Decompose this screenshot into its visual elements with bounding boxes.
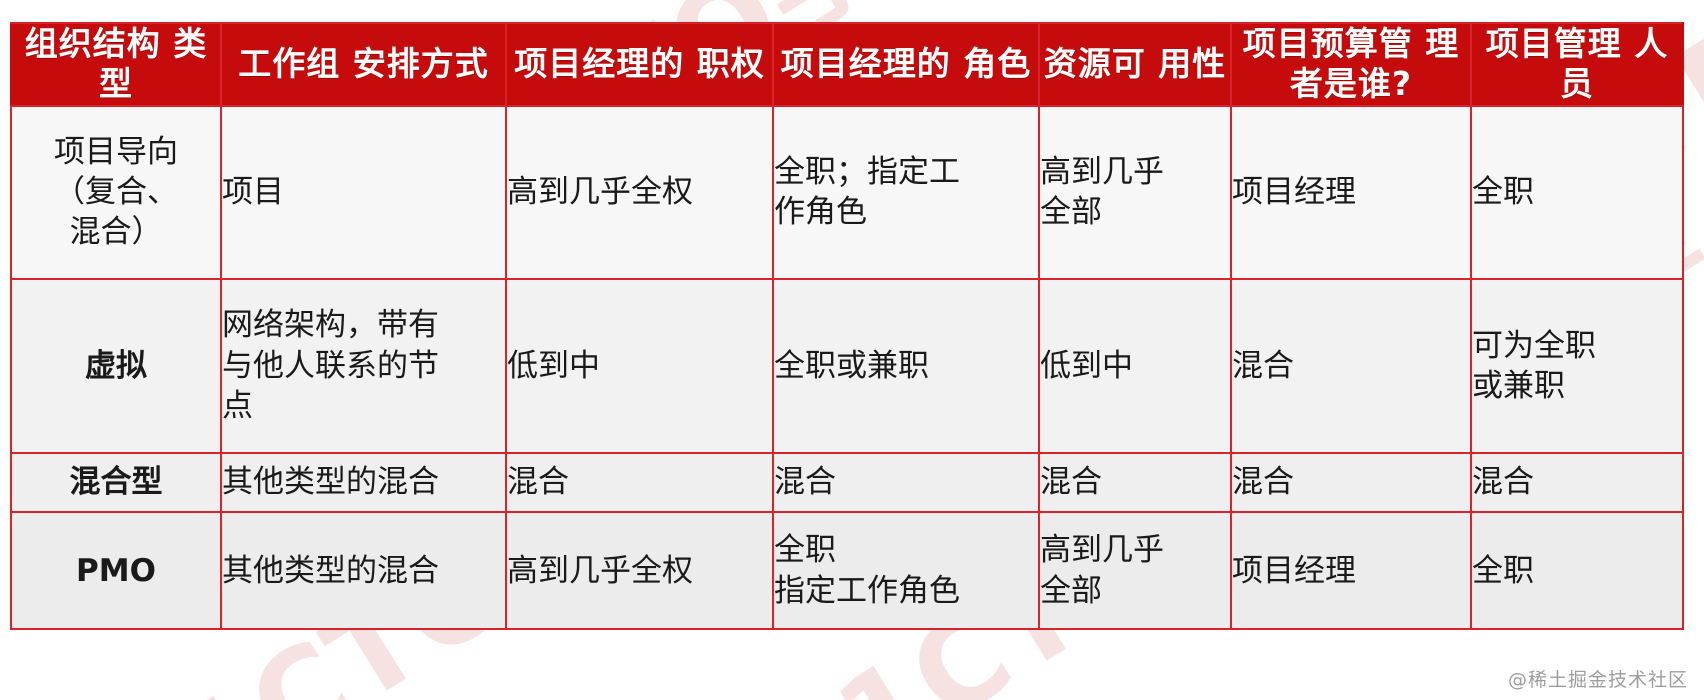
cell-pm-authority: 低到中 — [506, 279, 773, 453]
table-row: PMO 其他类型的混合 高到几乎全权 全职 指定工作角色 高到几乎 全部 项目经… — [11, 512, 1683, 629]
table-header: 组织结构 类型 工作组 安排方式 项目经理的 职权 项目经理的 角色 资源可 用… — [11, 23, 1683, 106]
cell-pm-role: 全职 指定工作角色 — [773, 512, 1039, 629]
cell-pm-staff: 混合 — [1471, 453, 1683, 513]
column-header-pm-role: 项目经理的 角色 — [773, 23, 1039, 106]
column-header-pm-authority: 项目经理的 职权 — [506, 23, 773, 106]
org-structure-comparison-table: 组织结构 类型 工作组 安排方式 项目经理的 职权 项目经理的 角色 资源可 用… — [10, 22, 1684, 630]
column-header-pm-staff: 项目管理 人员 — [1471, 23, 1683, 106]
cell-budget-owner: 项目经理 — [1231, 106, 1471, 280]
cell-budget-owner: 项目经理 — [1231, 512, 1471, 629]
cell-org-type: PMO — [11, 512, 221, 629]
column-header-budget-owner: 项目预算管 理者是谁? — [1231, 23, 1471, 106]
cell-workgroup: 网络架构，带有 与他人联系的节 点 — [221, 279, 506, 453]
table-image-canvas: 51CTO学堂 51CTO学堂 51CTO学堂 51CTO学堂 51CTO学堂 … — [0, 0, 1704, 700]
cell-org-type: 混合型 — [11, 453, 221, 513]
cell-pm-authority: 混合 — [506, 453, 773, 513]
cell-budget-owner: 混合 — [1231, 453, 1471, 513]
table-row: 项目导向 （复合、 混合） 项目 高到几乎全权 全职；指定工 作角色 高到几乎 … — [11, 106, 1683, 280]
cell-resource-availability: 混合 — [1039, 453, 1231, 513]
cell-pm-role: 全职；指定工 作角色 — [773, 106, 1039, 280]
cell-pm-role: 全职或兼职 — [773, 279, 1039, 453]
cell-org-type: 项目导向 （复合、 混合） — [11, 106, 221, 280]
cell-pm-role: 混合 — [773, 453, 1039, 513]
cell-resource-availability: 低到中 — [1039, 279, 1231, 453]
table-header-row: 组织结构 类型 工作组 安排方式 项目经理的 职权 项目经理的 角色 资源可 用… — [11, 23, 1683, 106]
comparison-table-wrapper: 组织结构 类型 工作组 安排方式 项目经理的 职权 项目经理的 角色 资源可 用… — [10, 22, 1682, 630]
cell-workgroup: 其他类型的混合 — [221, 512, 506, 629]
source-credit-watermark: @稀土掘金技术社区 — [1508, 665, 1688, 692]
cell-pm-authority: 高到几乎全权 — [506, 106, 773, 280]
cell-resource-availability: 高到几乎 全部 — [1039, 512, 1231, 629]
cell-workgroup: 其他类型的混合 — [221, 453, 506, 513]
cell-org-type: 虚拟 — [11, 279, 221, 453]
cell-resource-availability: 高到几乎 全部 — [1039, 106, 1231, 280]
cell-pm-staff: 全职 — [1471, 106, 1683, 280]
table-row: 虚拟 网络架构，带有 与他人联系的节 点 低到中 全职或兼职 低到中 混合 可为… — [11, 279, 1683, 453]
column-header-org-structure-type: 组织结构 类型 — [11, 23, 221, 106]
column-header-resource-availability: 资源可 用性 — [1039, 23, 1231, 106]
table-row: 混合型 其他类型的混合 混合 混合 混合 混合 混合 — [11, 453, 1683, 513]
cell-pm-staff: 可为全职 或兼职 — [1471, 279, 1683, 453]
cell-workgroup: 项目 — [221, 106, 506, 280]
cell-pm-staff: 全职 — [1471, 512, 1683, 629]
column-header-workgroup-arrangement: 工作组 安排方式 — [221, 23, 506, 106]
table-body: 项目导向 （复合、 混合） 项目 高到几乎全权 全职；指定工 作角色 高到几乎 … — [11, 106, 1683, 630]
cell-budget-owner: 混合 — [1231, 279, 1471, 453]
cell-pm-authority: 高到几乎全权 — [506, 512, 773, 629]
